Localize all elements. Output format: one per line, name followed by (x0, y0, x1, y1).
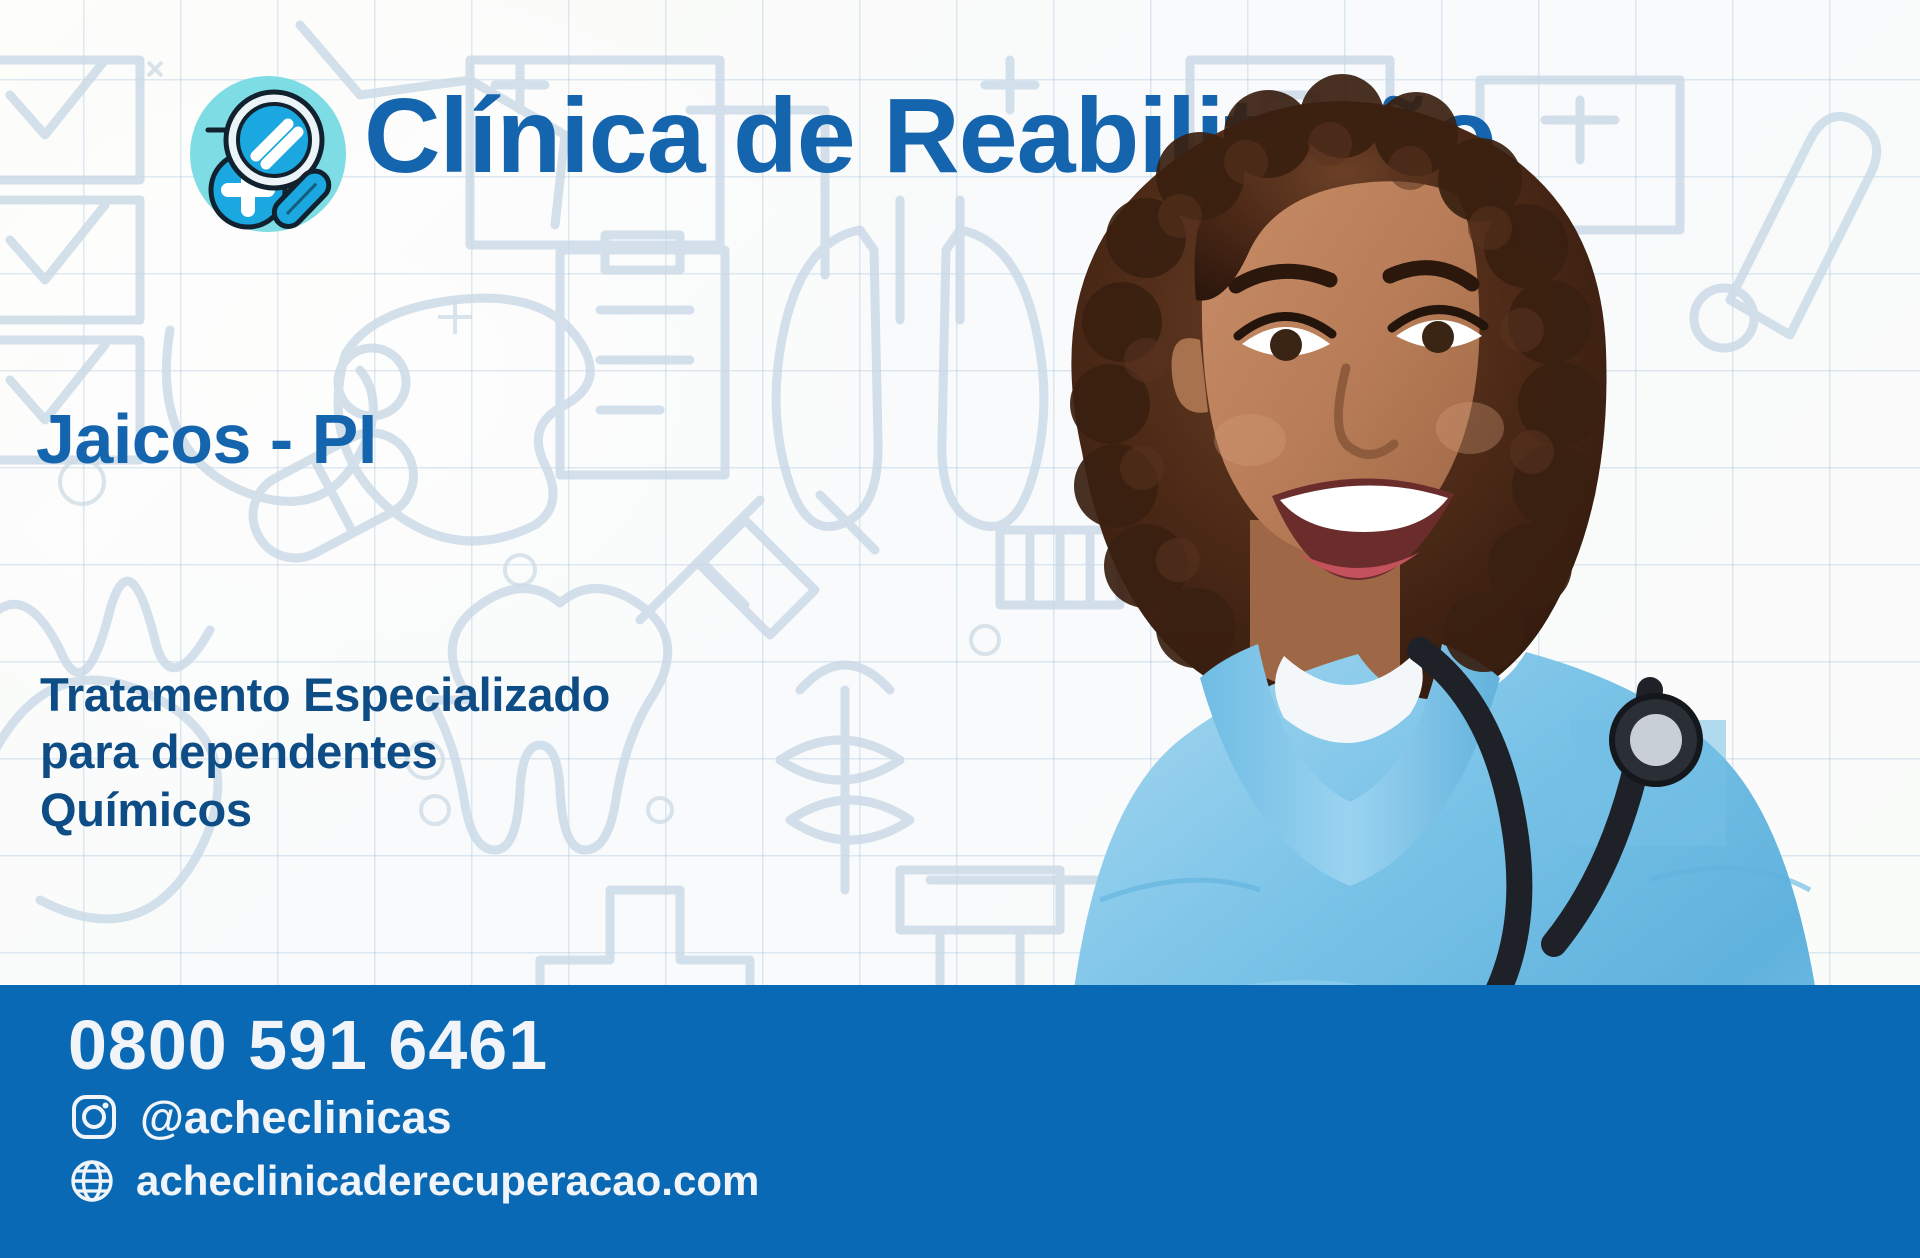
tagline: Tratamento Especializado para dependente… (40, 666, 610, 838)
website-contact[interactable]: acheclinicaderecuperacao.com (70, 1159, 759, 1203)
phone-number[interactable]: 0800 591 6461 (68, 1010, 548, 1080)
clinic-banner: Clínica de Reabilitação Jaicos - PI Trat… (0, 0, 1920, 1258)
globe-icon (70, 1159, 114, 1203)
location-heading: Jaicos - PI (36, 404, 377, 474)
contact-footer: 0800 591 6461 @acheclinicas acheclinicad… (0, 985, 1920, 1258)
instagram-contact[interactable]: @acheclinicas (70, 1093, 452, 1141)
website-url: acheclinicaderecuperacao.com (136, 1160, 759, 1202)
instagram-icon (70, 1093, 118, 1141)
instagram-handle: @acheclinicas (140, 1095, 452, 1140)
tagline-line-3: Químicos (40, 781, 610, 838)
tagline-line-1: Tratamento Especializado (40, 666, 610, 723)
magnifier-plus-icon (186, 72, 350, 236)
tagline-line-2: para dependentes (40, 723, 610, 780)
